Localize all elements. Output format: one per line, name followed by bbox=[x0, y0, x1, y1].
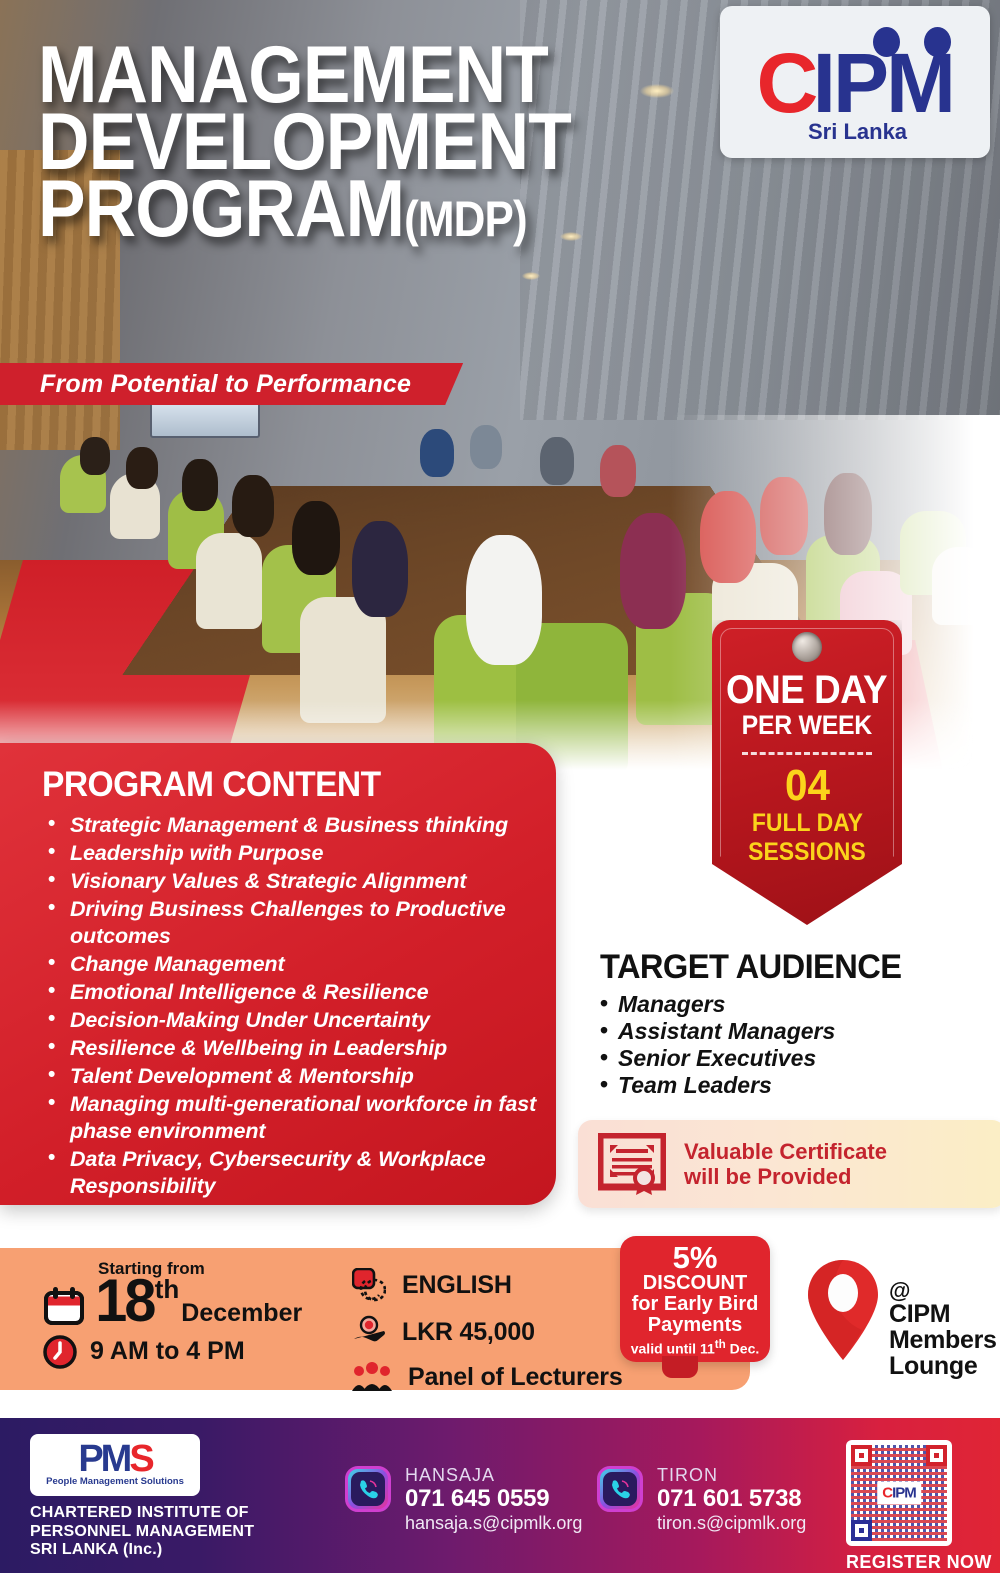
contact-tiron[interactable]: TIRON 071 601 5738 tiron.s@cipmlk.org bbox=[597, 1466, 806, 1533]
list-item: Talent Development & Mentorship bbox=[42, 1063, 538, 1090]
discount-badge: 5% DISCOUNT for Early Bird Payments vali… bbox=[620, 1236, 770, 1362]
title-program-word: PROGRAM bbox=[38, 164, 404, 254]
venue-line-2: Members bbox=[889, 1328, 997, 1354]
clock-icon bbox=[42, 1334, 78, 1370]
lecturers-row: Panel of Lecturers bbox=[352, 1362, 623, 1392]
location-pin-icon bbox=[805, 1258, 881, 1362]
cipm-wordmark: C IPM bbox=[757, 31, 953, 117]
tag-session-label-1: FULL DAY bbox=[751, 810, 862, 837]
institute-line-1: CHARTERED INSTITUTE OF bbox=[30, 1504, 254, 1523]
target-audience-heading: TARGET AUDIENCE bbox=[600, 948, 974, 987]
cipm-letters-ipm: IPM bbox=[813, 51, 953, 117]
discount-valid-tail: Dec. bbox=[726, 1340, 759, 1356]
language-row: ENGLISH bbox=[352, 1268, 623, 1302]
list-item: Managers bbox=[600, 991, 990, 1018]
qr-center-logo: CIPM bbox=[877, 1482, 921, 1505]
pms-tagline: People Management Solutions bbox=[46, 1476, 184, 1487]
certificate-line-2: will be Provided bbox=[684, 1164, 887, 1189]
target-audience-section: TARGET AUDIENCE Managers Assistant Manag… bbox=[600, 948, 990, 1099]
discount-valid-suffix: th bbox=[715, 1338, 726, 1351]
tag-line-2: PER WEEK bbox=[742, 710, 872, 741]
tagline-text: From Potential to Performance bbox=[40, 370, 411, 399]
cipm-letter-c: C bbox=[756, 51, 813, 117]
discount-percent: 5% bbox=[620, 1242, 770, 1273]
qr-finder-bottom-left bbox=[851, 1520, 872, 1541]
discount-validity: valid until 11th Dec. bbox=[620, 1339, 770, 1357]
pms-letter-p: P bbox=[78, 1438, 100, 1480]
list-item: Visionary Values & Strategic Alignment bbox=[42, 868, 538, 895]
list-item: Senior Executives bbox=[600, 1045, 990, 1072]
qr-logo-c: C bbox=[882, 1485, 892, 1502]
institute-line-2: PERSONNEL MANAGEMENT bbox=[30, 1523, 254, 1542]
register-qr-block[interactable]: CIPM REGISTER NOW bbox=[846, 1440, 992, 1573]
tagline-banner: From Potential to Performance bbox=[0, 363, 463, 405]
contact-name: TIRON bbox=[657, 1466, 806, 1486]
people-figures-icon bbox=[873, 27, 951, 61]
attendee bbox=[352, 521, 408, 617]
list-item: Driving Business Challenges to Productiv… bbox=[42, 896, 538, 950]
start-month: December bbox=[181, 1301, 302, 1326]
poster-title: MANAGEMENT DEVELOPMENT PROGRAM(MDP) bbox=[38, 42, 678, 244]
contact-phone[interactable]: 071 645 0559 bbox=[405, 1486, 582, 1513]
viber-icon bbox=[345, 1466, 391, 1512]
list-item: Assistant Managers bbox=[600, 1018, 990, 1045]
attendee bbox=[232, 475, 274, 537]
qr-logo-ipm: IPM bbox=[892, 1485, 916, 1502]
list-item: Data Privacy, Cybersecurity & Workplace … bbox=[42, 1146, 538, 1200]
pms-logo: PMS People Management Solutions bbox=[30, 1434, 200, 1496]
start-day-suffix: th bbox=[155, 1276, 180, 1302]
schedule-tag: ONE DAY PER WEEK 04 FULL DAY SESSIONS bbox=[712, 620, 902, 925]
viber-icon bbox=[597, 1466, 643, 1512]
discount-label-2: for Early Bird bbox=[620, 1294, 770, 1315]
course-meta-column: ENGLISH LKR 45,000 Panel of Lecturers bbox=[352, 1268, 623, 1405]
contact-name: HANSAJA bbox=[405, 1466, 582, 1486]
tag-session-label-2: SESSIONS bbox=[748, 839, 866, 866]
certificate-icon bbox=[598, 1133, 666, 1195]
phone-glyph bbox=[609, 1478, 631, 1500]
contact-text: HANSAJA 071 645 0559 hansaja.s@cipmlk.or… bbox=[405, 1466, 582, 1533]
fee-row: LKR 45,000 bbox=[352, 1315, 623, 1349]
program-content-panel: PROGRAM CONTENT Strategic Management & B… bbox=[0, 743, 556, 1205]
fee-text: LKR 45,000 bbox=[402, 1318, 535, 1347]
ceiling-light bbox=[522, 272, 540, 280]
language-icon bbox=[352, 1268, 386, 1302]
venue-at-symbol: @ bbox=[889, 1280, 997, 1302]
fee-hand-coin-icon bbox=[352, 1315, 386, 1349]
venue-block: @ CIPM Members Lounge bbox=[805, 1258, 997, 1379]
attendee bbox=[540, 437, 574, 485]
list-item: Leadership with Purpose bbox=[42, 840, 538, 867]
register-now-label: REGISTER NOW bbox=[846, 1552, 992, 1573]
qr-code[interactable]: CIPM bbox=[846, 1440, 952, 1546]
list-item: Strategic Management & Business thinking bbox=[42, 812, 538, 839]
pms-letter-m: M bbox=[101, 1438, 130, 1480]
attendee bbox=[292, 501, 340, 575]
session-time: 9 AM to 4 PM bbox=[42, 1334, 302, 1370]
attendee bbox=[420, 429, 454, 477]
attendee bbox=[182, 459, 218, 511]
institute-name: CHARTERED INSTITUTE OF PERSONNEL MANAGEM… bbox=[30, 1504, 254, 1560]
start-day: 18 bbox=[95, 1275, 153, 1328]
contact-email[interactable]: hansaja.s@cipmlk.org bbox=[405, 1513, 582, 1533]
attendee bbox=[600, 445, 636, 497]
list-item: Decision-Making Under Uncertainty bbox=[42, 1007, 538, 1034]
footer: PMS People Management Solutions CHARTERE… bbox=[0, 1418, 1000, 1573]
qr-finder-top-right bbox=[926, 1445, 947, 1466]
certificate-banner: Valuable Certificate will be Provided bbox=[578, 1120, 1000, 1208]
attendee bbox=[466, 535, 542, 665]
title-line-3: PROGRAM(MDP) bbox=[38, 176, 601, 243]
attendee bbox=[126, 447, 158, 489]
title-abbr: (MDP) bbox=[404, 191, 527, 247]
venue-line-1: CIPM bbox=[889, 1302, 997, 1328]
discount-label-3: Payments bbox=[620, 1315, 770, 1336]
contact-phone[interactable]: 071 601 5738 bbox=[657, 1486, 806, 1513]
tag-line-1: ONE DAY bbox=[726, 670, 887, 710]
date-time-column: Starting from 18 th December 9 AM to 4 P… bbox=[42, 1260, 302, 1370]
list-item: Emotional Intelligence & Resilience bbox=[42, 979, 538, 1006]
list-item: Team Leaders bbox=[600, 1072, 990, 1099]
people-group-icon bbox=[352, 1362, 392, 1392]
program-content-list: Strategic Management & Business thinking… bbox=[42, 812, 538, 1200]
cipm-logo: C IPM Sri Lanka bbox=[720, 6, 990, 158]
qr-finder-top-left bbox=[851, 1445, 872, 1466]
discount-valid-prefix: valid until 11 bbox=[631, 1340, 715, 1356]
venue-text: @ CIPM Members Lounge bbox=[889, 1280, 997, 1379]
attendee bbox=[470, 425, 502, 469]
certificate-line-1: Valuable Certificate bbox=[684, 1139, 887, 1164]
target-audience-list: Managers Assistant Managers Senior Execu… bbox=[600, 991, 990, 1099]
pms-wordmark: PMS bbox=[78, 1443, 151, 1475]
tag-session-count: 04 bbox=[784, 764, 829, 808]
language-text: ENGLISH bbox=[402, 1271, 512, 1300]
session-time-text: 9 AM to 4 PM bbox=[90, 1337, 245, 1366]
program-content-heading: PROGRAM CONTENT bbox=[42, 765, 518, 805]
discount-label-1: DISCOUNT bbox=[620, 1273, 770, 1294]
attendee bbox=[80, 437, 110, 475]
list-item: Resilience & Wellbeing in Leadership bbox=[42, 1035, 538, 1062]
phone-glyph bbox=[357, 1478, 379, 1500]
institute-line-3: SRI LANKA (Inc.) bbox=[30, 1541, 254, 1560]
contact-email[interactable]: tiron.s@cipmlk.org bbox=[657, 1513, 806, 1533]
calendar-icon bbox=[42, 1284, 86, 1328]
venue-line-3: Lounge bbox=[889, 1354, 997, 1380]
certificate-text: Valuable Certificate will be Provided bbox=[684, 1139, 887, 1189]
contact-hansaja[interactable]: HANSAJA 071 645 0559 hansaja.s@cipmlk.or… bbox=[345, 1466, 582, 1533]
lecturers-text: Panel of Lecturers bbox=[408, 1363, 623, 1392]
contact-text: TIRON 071 601 5738 tiron.s@cipmlk.org bbox=[657, 1466, 806, 1533]
pms-letter-s: S bbox=[129, 1438, 151, 1480]
start-date: 18 th December bbox=[42, 1275, 302, 1328]
list-item: Change Management bbox=[42, 951, 538, 978]
list-item: Managing multi-generational workforce in… bbox=[42, 1091, 538, 1145]
chair bbox=[196, 533, 262, 629]
